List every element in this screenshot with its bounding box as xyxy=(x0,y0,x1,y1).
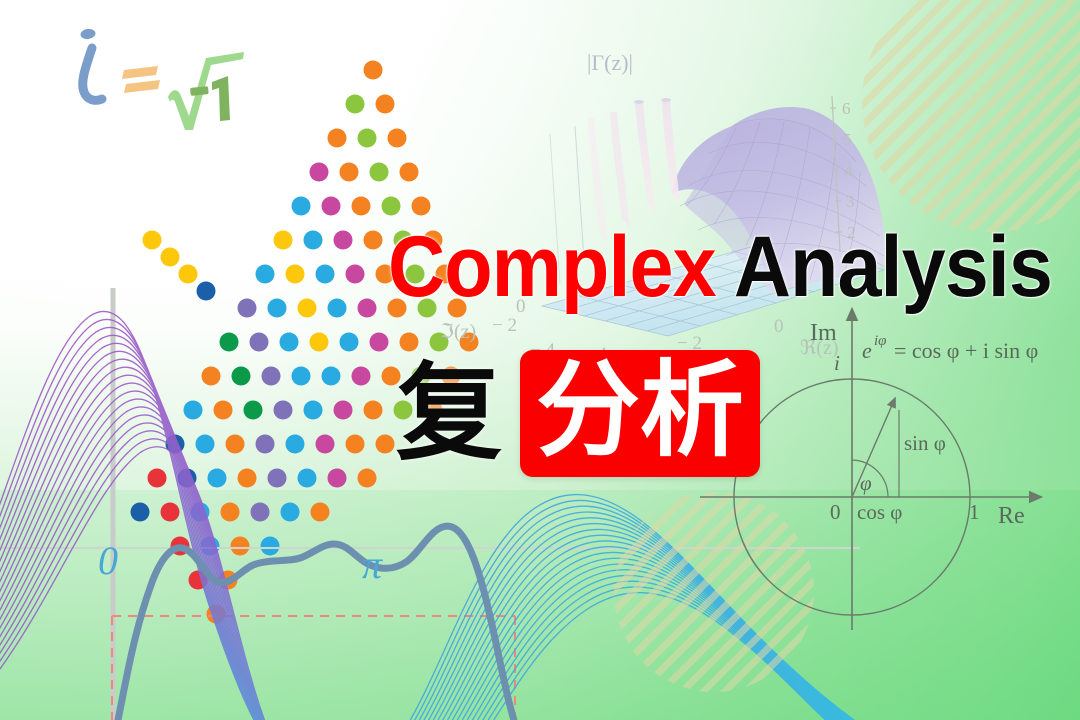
mosaic-dot xyxy=(358,129,377,148)
mosaic-dot xyxy=(370,163,389,182)
gamma-z-tick-3: 3 xyxy=(846,192,855,211)
mosaic-dot xyxy=(292,197,311,216)
euler-radius-vector xyxy=(852,403,893,497)
euler-label-phi: φ xyxy=(860,471,872,495)
euler-formula-unit-circle-diagram: Im Re i 0 1 cos φ sin φ φ e iφ = cos φ +… xyxy=(760,300,1080,630)
mosaic-dot xyxy=(388,129,407,148)
euler-axis-im-label: Im xyxy=(810,320,837,346)
subtitle-char-fu: 复 xyxy=(396,361,502,467)
mosaic-dot xyxy=(400,163,419,182)
mosaic-dot xyxy=(310,163,329,182)
mosaic-dot xyxy=(143,231,162,250)
euler-label-zero: 0 xyxy=(830,500,841,524)
subtitle-row: 复 分析 xyxy=(396,350,760,477)
mosaic-dot xyxy=(346,95,365,114)
title-word-analysis: Analysis xyxy=(716,219,1052,315)
gamma-z-tick-5: 5 xyxy=(843,130,852,149)
euler-label-sin: sin φ xyxy=(904,431,946,455)
mosaic-dot xyxy=(340,163,359,182)
gamma-z-tick-6: 6 xyxy=(842,99,851,118)
glyph-i-icon xyxy=(80,28,102,100)
euler-equation: e iφ = cos φ + i sin φ xyxy=(862,333,1038,363)
euler-label-cos: cos φ xyxy=(857,500,902,524)
title-word-complex: Complex xyxy=(388,219,716,315)
cover-canvas: |Γ(z)| xyxy=(0,0,1080,720)
euler-label-one: 1 xyxy=(969,500,980,524)
mosaic-dot xyxy=(322,197,341,216)
gamma-plot-title: |Γ(z)| xyxy=(587,50,633,75)
euler-label-i: i xyxy=(834,351,840,375)
mosaic-dot xyxy=(334,231,353,250)
wave-tick-zero: 0 xyxy=(98,538,118,583)
euler-equation-exponent: iφ xyxy=(874,333,886,349)
mosaic-dot xyxy=(328,129,347,148)
mosaic-dot xyxy=(376,95,395,114)
mosaic-dot xyxy=(304,231,323,250)
euler-equation-rest: = cos φ + i sin φ xyxy=(894,338,1038,363)
gamma-z-tick-4: 4 xyxy=(844,161,853,180)
page-title: Complex Analysis xyxy=(388,224,1052,310)
wave-tick-pi: π xyxy=(362,542,383,587)
mosaic-dot xyxy=(382,197,401,216)
mosaic-dot xyxy=(412,197,431,216)
mosaic-dot xyxy=(352,197,371,216)
mosaic-dot xyxy=(364,61,383,80)
mosaic-dot xyxy=(364,231,383,250)
euler-axis-re-label: Re xyxy=(998,503,1025,529)
euler-equation-base: e xyxy=(862,338,872,363)
subtitle-badge-fenxi: 分析 xyxy=(520,350,760,477)
mosaic-dot xyxy=(274,231,293,250)
